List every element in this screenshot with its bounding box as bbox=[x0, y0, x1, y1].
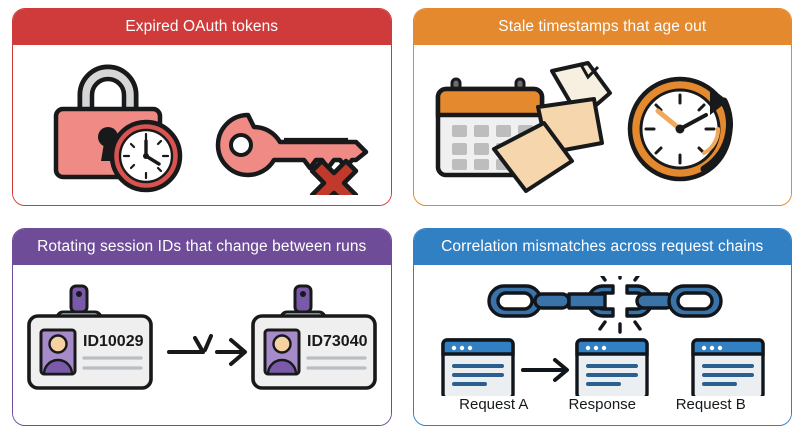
padlock-clock-icon bbox=[56, 67, 180, 190]
clock-with-rewind-arrow-icon bbox=[630, 79, 730, 179]
card-body-rotating-session-ids: ID10029 bbox=[13, 265, 391, 425]
card-expired-oauth-tokens: Expired OAuth tokens bbox=[12, 8, 392, 206]
key-with-red-x-icon bbox=[218, 115, 366, 195]
card-header-rotating-session-ids: Rotating session IDs that change between… bbox=[13, 229, 391, 265]
calendar-with-flying-pages-icon bbox=[438, 63, 610, 191]
card-body-stale-timestamps bbox=[414, 45, 792, 205]
card-title: Expired OAuth tokens bbox=[125, 18, 278, 36]
rotating-session-id-illustration: ID10029 bbox=[27, 280, 377, 410]
card-title: Stale timestamps that age out bbox=[498, 18, 706, 36]
browser-window-icon-response bbox=[577, 340, 647, 396]
card-body-expired-oauth-tokens bbox=[13, 45, 391, 205]
id-badge-icon-left: ID10029 bbox=[29, 286, 151, 388]
broken-arrow-icon bbox=[169, 336, 245, 364]
card-correlation-mismatches: Correlation mismatches across request ch… bbox=[413, 228, 793, 426]
card-title: Rotating session IDs that change between… bbox=[37, 238, 366, 256]
browser-window-icon-request-b bbox=[693, 340, 763, 396]
label-response: Response bbox=[549, 396, 656, 413]
card-grid: Expired OAuth tokens bbox=[0, 0, 800, 436]
stale-timestamp-illustration bbox=[432, 55, 772, 195]
broken-chain-icon bbox=[489, 286, 721, 316]
label-request-a: Request A bbox=[440, 396, 547, 413]
correlation-mismatch-illustration bbox=[427, 276, 777, 396]
card-rotating-session-ids: Rotating session IDs that change between… bbox=[12, 228, 392, 426]
badge-id-text-left: ID10029 bbox=[83, 333, 144, 350]
id-badge-icon-right: ID73040 bbox=[253, 286, 375, 388]
card-body-correlation-mismatches: Request A Response Request B bbox=[414, 265, 792, 425]
arrow-right-icon bbox=[523, 360, 567, 380]
oauth-token-illustration bbox=[32, 55, 372, 195]
card-title: Correlation mismatches across request ch… bbox=[441, 238, 763, 256]
browser-window-icon-request-a bbox=[443, 340, 513, 396]
label-request-b: Request B bbox=[657, 396, 764, 413]
card-stale-timestamps: Stale timestamps that age out bbox=[413, 8, 793, 206]
card-header-stale-timestamps: Stale timestamps that age out bbox=[414, 9, 792, 45]
card-header-expired-oauth-tokens: Expired OAuth tokens bbox=[13, 9, 391, 45]
request-chain-labels: Request A Response Request B bbox=[414, 396, 792, 413]
badge-id-text-right: ID73040 bbox=[307, 333, 368, 350]
card-header-correlation-mismatches: Correlation mismatches across request ch… bbox=[414, 229, 792, 265]
